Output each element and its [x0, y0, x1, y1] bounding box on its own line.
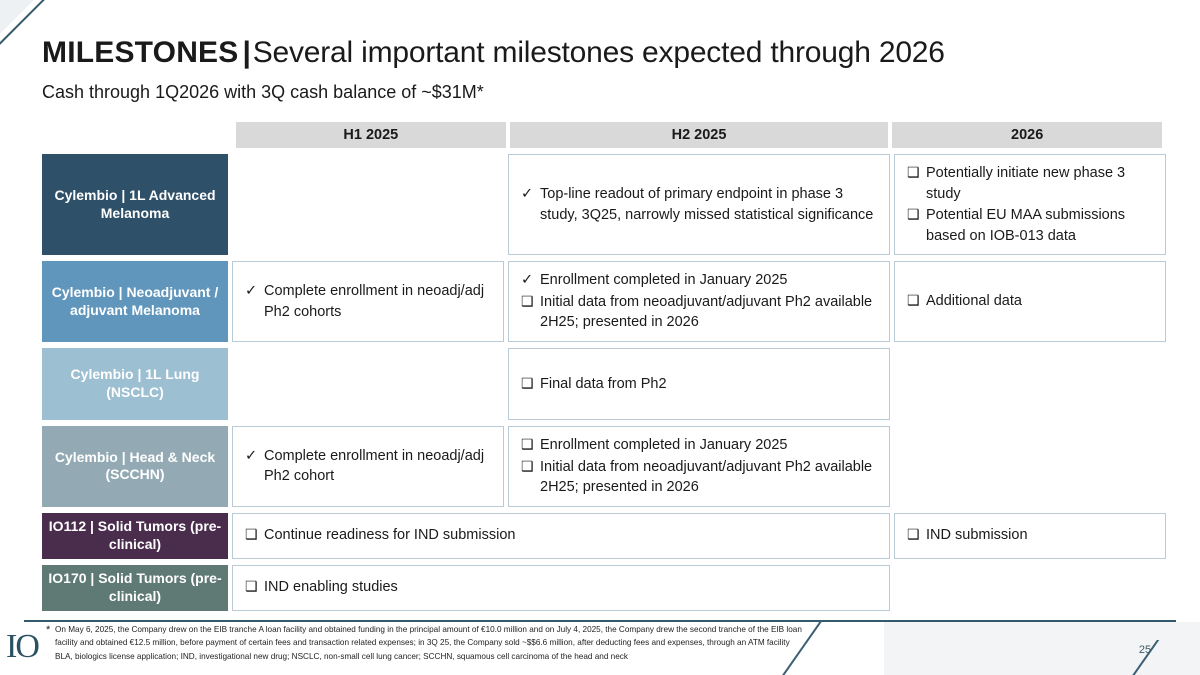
- table-row: Cylembio | 1L Lung (NSCLC) ❑ Final data …: [42, 348, 1162, 420]
- page-number: 25: [1130, 644, 1160, 656]
- list-item-label: IND enabling studies: [264, 577, 879, 598]
- row-cells: ✓ Top-line readout of primary endpoint i…: [232, 154, 1166, 255]
- column-header-2026: 2026: [892, 122, 1162, 148]
- cell-h2-advanced-melanoma[interactable]: ✓ Top-line readout of primary endpoint i…: [508, 154, 890, 255]
- table-column-headers: H1 2025 H2 2025 2026: [232, 122, 1162, 148]
- list-item: ✓ Complete enrollment in neoadj/adj Ph2 …: [245, 446, 493, 487]
- page-title: MILESTONES|Several important milestones …: [42, 36, 1122, 71]
- check-icon: ✓: [245, 281, 264, 302]
- cell-h2-lung-nsclc[interactable]: ❑ Final data from Ph2: [508, 348, 890, 420]
- checkbox-icon[interactable]: ❑: [907, 525, 926, 545]
- checkbox-icon[interactable]: ❑: [245, 525, 264, 545]
- list-item-label: Top-line readout of primary endpoint in …: [540, 184, 879, 225]
- table-row: IO170 | Solid Tumors (pre-clinical) ❑ IN…: [42, 565, 1162, 611]
- list-item: ❑ Initial data from neoadjuvant/adjuvant…: [521, 292, 879, 333]
- cell-h1-empty: [232, 154, 504, 255]
- table-row: Cylembio | Neoadjuvant / adjuvant Melano…: [42, 261, 1162, 342]
- page-title-divider: |: [238, 36, 252, 69]
- list-item-label: Potentially initiate new phase 3 study: [926, 163, 1155, 204]
- row-cells: ❑ IND enabling studies: [232, 565, 1166, 611]
- company-logo: IO: [6, 630, 38, 664]
- list-item: ❑ IND enabling studies: [245, 577, 879, 598]
- cell-2026-empty: [894, 565, 1166, 611]
- list-item-label: IND submission: [926, 525, 1155, 546]
- table-row: Cylembio | Head & Neck (SCCHN) ✓ Complet…: [42, 426, 1162, 507]
- list-item-label: Enrollment completed in January 2025: [540, 270, 879, 291]
- cell-2026-empty: [894, 348, 1166, 420]
- cell-2026-empty: [894, 426, 1166, 507]
- row-label-cylembio-1l-lung-nsclc: Cylembio | 1L Lung (NSCLC): [42, 348, 228, 420]
- list-item: ❑ Enrollment completed in January 2025: [521, 435, 879, 456]
- row-label-io170-solid-tumors: IO170 | Solid Tumors (pre-clinical): [42, 565, 228, 611]
- footer-divider: [24, 620, 1176, 622]
- cell-2026-neoadjuvant-melanoma[interactable]: ❑ Additional data: [894, 261, 1166, 342]
- check-icon: ✓: [245, 446, 264, 467]
- column-header-h2-2025: H2 2025: [510, 122, 889, 148]
- list-item-label: Initial data from neoadjuvant/adjuvant P…: [540, 457, 879, 498]
- list-item-label: Potential EU MAA submissions based on IO…: [926, 205, 1155, 246]
- list-item: ❑ Additional data: [907, 291, 1155, 312]
- checkbox-icon[interactable]: ❑: [907, 205, 926, 225]
- checkbox-icon[interactable]: ❑: [245, 577, 264, 597]
- cell-h1-empty: [232, 348, 504, 420]
- checkbox-icon[interactable]: ❑: [521, 435, 540, 455]
- cell-h2-neoadjuvant-melanoma[interactable]: ✓ Enrollment completed in January 2025 ❑…: [508, 261, 890, 342]
- slide-header: MILESTONES|Several important milestones …: [42, 36, 1122, 103]
- checkbox-icon[interactable]: ❑: [521, 292, 540, 312]
- list-item: ❑ Potentially initiate new phase 3 study: [907, 163, 1155, 204]
- row-label-io112-solid-tumors: IO112 | Solid Tumors (pre-clinical): [42, 513, 228, 559]
- footnote-abbreviations: BLA, biologics license application; IND,…: [46, 651, 806, 664]
- table-row: Cylembio | 1L Advanced Melanoma ✓ Top-li…: [42, 154, 1162, 255]
- row-cells: ❑ Continue readiness for IND submission …: [232, 513, 1166, 559]
- slide-canvas: MILESTONES|Several important milestones …: [0, 0, 1200, 675]
- row-cells: ❑ Final data from Ph2: [232, 348, 1166, 420]
- cell-2026-advanced-melanoma[interactable]: ❑ Potentially initiate new phase 3 study…: [894, 154, 1166, 255]
- row-cells: ✓ Complete enrollment in neoadj/adj Ph2 …: [232, 261, 1166, 342]
- list-item-label: Initial data from neoadjuvant/adjuvant P…: [540, 292, 879, 333]
- list-item: ❑ Initial data from neoadjuvant/adjuvant…: [521, 457, 879, 498]
- footnote-block: On May 6, 2025, the Company drew on the …: [46, 624, 806, 664]
- row-label-cylembio-head-and-neck-scchn: Cylembio | Head & Neck (SCCHN): [42, 426, 228, 507]
- checkbox-icon[interactable]: ❑: [521, 457, 540, 477]
- cell-h1-head-and-neck[interactable]: ✓ Complete enrollment in neoadj/adj Ph2 …: [232, 426, 504, 507]
- list-item-label: Complete enrollment in neoadj/adj Ph2 co…: [264, 281, 493, 322]
- list-item: ✓ Complete enrollment in neoadj/adj Ph2 …: [245, 281, 493, 322]
- cell-2026-io112[interactable]: ❑ IND submission: [894, 513, 1166, 559]
- row-label-cylembio-1l-advanced-melanoma: Cylembio | 1L Advanced Melanoma: [42, 154, 228, 255]
- list-item-label: Additional data: [926, 291, 1155, 312]
- check-icon: ✓: [521, 184, 540, 205]
- list-item: ✓ Top-line readout of primary endpoint i…: [521, 184, 879, 225]
- table-row: IO112 | Solid Tumors (pre-clinical) ❑ Co…: [42, 513, 1162, 559]
- list-item: ❑ IND submission: [907, 525, 1155, 546]
- checkbox-icon[interactable]: ❑: [521, 374, 540, 394]
- page-title-bold: MILESTONES: [42, 36, 238, 69]
- checkbox-icon[interactable]: ❑: [907, 163, 926, 183]
- list-item: ✓ Enrollment completed in January 2025: [521, 270, 879, 291]
- column-header-h1-2025: H1 2025: [236, 122, 506, 148]
- list-item-label: Enrollment completed in January 2025: [540, 435, 879, 456]
- cell-h1-neoadjuvant-melanoma[interactable]: ✓ Complete enrollment in neoadj/adj Ph2 …: [232, 261, 504, 342]
- page-subtitle: Cash through 1Q2026 with 3Q cash balance…: [42, 82, 1122, 103]
- list-item: ❑ Potential EU MAA submissions based on …: [907, 205, 1155, 246]
- footnote-text: On May 6, 2025, the Company drew on the …: [46, 624, 806, 649]
- cell-h2-head-and-neck[interactable]: ❑ Enrollment completed in January 2025 ❑…: [508, 426, 890, 507]
- cell-span-io112[interactable]: ❑ Continue readiness for IND submission: [232, 513, 890, 559]
- list-item-label: Continue readiness for IND submission: [264, 525, 879, 546]
- list-item-label: Final data from Ph2: [540, 374, 879, 395]
- list-item-label: Complete enrollment in neoadj/adj Ph2 co…: [264, 446, 493, 487]
- row-cells: ✓ Complete enrollment in neoadj/adj Ph2 …: [232, 426, 1166, 507]
- page-title-rest: Several important milestones expected th…: [253, 36, 945, 69]
- list-item: ❑ Continue readiness for IND submission: [245, 525, 879, 546]
- cell-span-io170[interactable]: ❑ IND enabling studies: [232, 565, 890, 611]
- checkbox-icon[interactable]: ❑: [907, 291, 926, 311]
- check-icon: ✓: [521, 270, 540, 291]
- row-label-cylembio-neoadjuvant-adjuvant-melanoma: Cylembio | Neoadjuvant / adjuvant Melano…: [42, 261, 228, 342]
- milestones-table: H1 2025 H2 2025 2026 Cylembio | 1L Advan…: [42, 122, 1162, 611]
- list-item: ❑ Final data from Ph2: [521, 374, 879, 395]
